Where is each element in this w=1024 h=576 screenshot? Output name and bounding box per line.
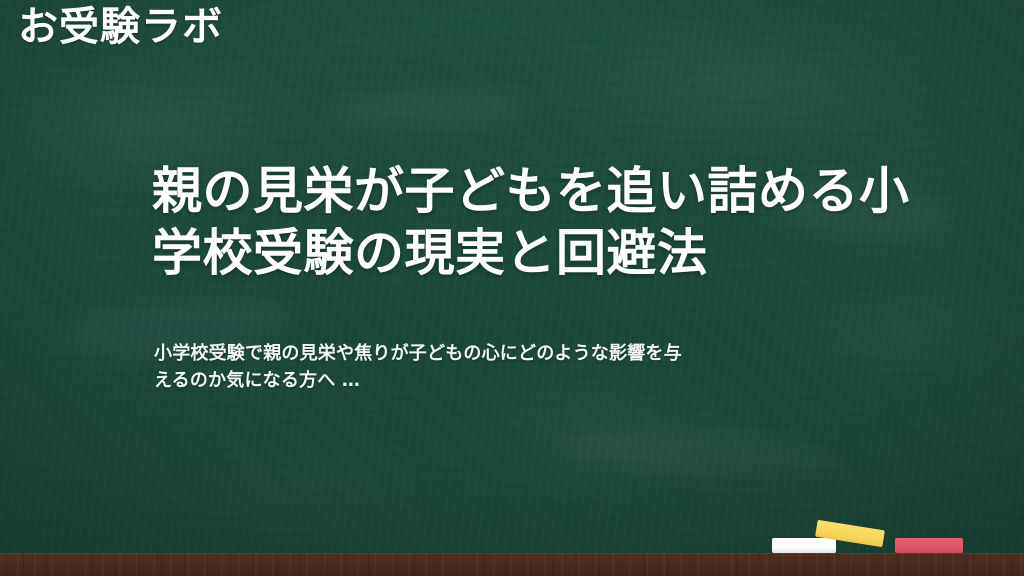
site-logo[interactable]: お受験ラボ [18, 7, 223, 47]
page-title: 親の見栄が子どもを追い詰める小学校受験の現実と回避法 [152, 160, 952, 284]
chalk-stick-red [895, 538, 963, 553]
thumbnail-canvas: お受験ラボ 親の見栄が子どもを追い詰める小学校受験の現実と回避法 小学校受験で親… [0, 0, 1024, 576]
page-subtitle: 小学校受験で親の見栄や焦りが子どもの心にどのような影響を与えるのか気になる方へ … [154, 340, 694, 395]
chalk-ledge [0, 553, 1024, 576]
chalk-stick-white [772, 538, 836, 553]
